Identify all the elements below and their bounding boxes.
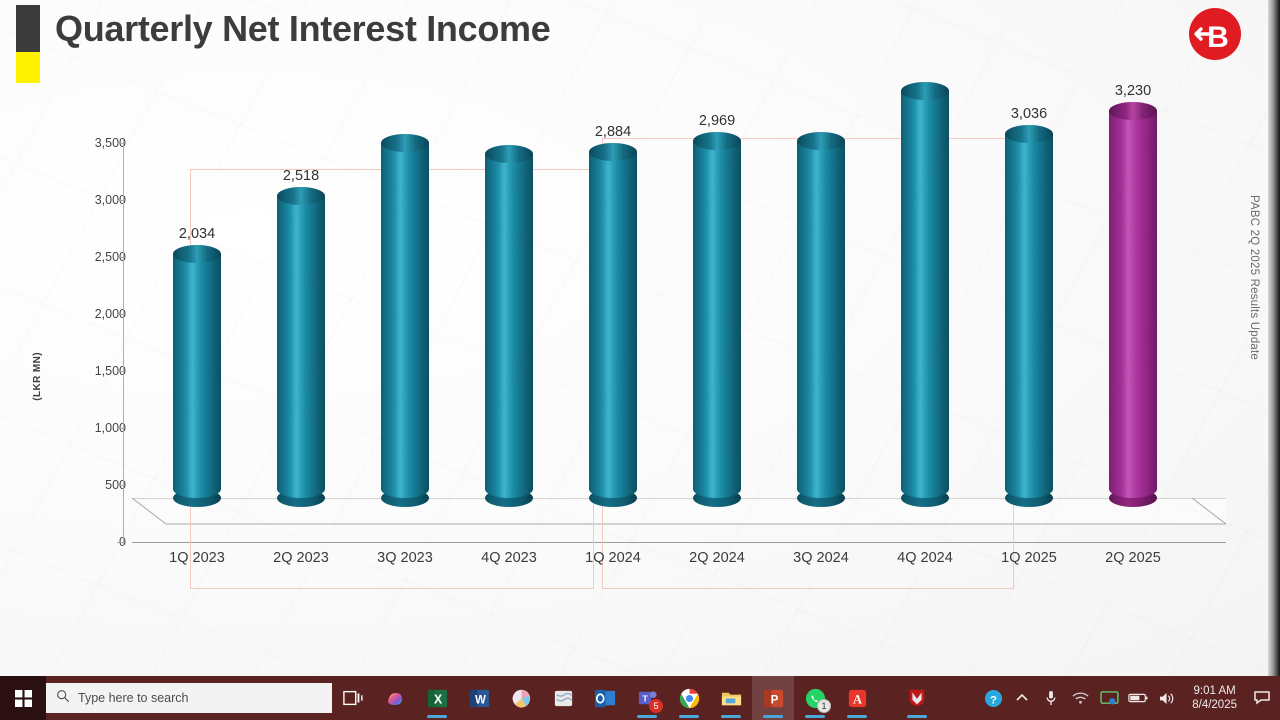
show-hidden-icons-chevron-up-icon[interactable] (1012, 688, 1032, 708)
x-label-1q-2025: 1Q 2025 (1001, 550, 1057, 566)
windows-taskbar: Type here to search X (0, 676, 1280, 720)
bar-body (1005, 134, 1053, 498)
running-indicator (679, 715, 699, 718)
slide-side-label: PABC 2Q 2025 Results Update (1248, 195, 1260, 360)
whatsapp-badge: 1 (817, 699, 831, 713)
x-label-4q-2023: 4Q 2023 (481, 550, 537, 566)
copilot-icon[interactable] (374, 676, 416, 720)
y-tick-mark-2500 (117, 257, 123, 258)
svg-text:A: A (853, 692, 862, 706)
y-tick-mark-500 (117, 485, 123, 486)
svg-text:X: X (433, 692, 442, 706)
task-view-icon[interactable] (332, 676, 374, 720)
running-indicator (805, 715, 825, 718)
running-indicator (637, 715, 657, 718)
company-logo: B (1187, 6, 1243, 62)
bar-cap (173, 245, 221, 263)
running-indicator (763, 715, 783, 718)
file-explorer-icon[interactable] (710, 676, 752, 720)
teams-badge: 5 (649, 699, 663, 713)
x-label-2q-2023: 2Q 2023 (273, 550, 329, 566)
bar-label-1q-2023: 2,034 (179, 226, 215, 242)
bar-2q-2024[interactable]: 2,969 (693, 141, 741, 498)
bar-cap (797, 132, 845, 150)
bar-cap (277, 187, 325, 205)
bar-label-1q-2025: 3,036 (1011, 106, 1047, 122)
powerpoint-slide[interactable]: Quarterly Net Interest Income B PABC 2Q … (0, 0, 1268, 676)
bar-1q-2023[interactable]: 2,034 (173, 254, 221, 498)
outlook-icon[interactable] (584, 676, 626, 720)
svg-text:B: B (1207, 21, 1229, 54)
chart: (LKR MN) 0 500 1,000 1,500 2,000 2,500 3… (36, 122, 1226, 622)
bar-2q-2023[interactable]: 2,518 (277, 196, 325, 498)
network-wifi-icon[interactable] (1070, 688, 1090, 708)
bar-cap (1109, 102, 1157, 120)
chrome-icon[interactable] (668, 676, 710, 720)
accent-bar-yellow (16, 52, 40, 83)
x-axis-labels: 1Q 2023 2Q 2023 3Q 2023 4Q 2023 1Q 2024 … (132, 550, 1226, 586)
x-label-3q-2023: 3Q 2023 (377, 550, 433, 566)
clock-time: 9:01 AM (1192, 684, 1237, 698)
powerpoint-icon[interactable]: P (752, 676, 794, 720)
y-tick-mark-3000 (117, 200, 123, 201)
running-indicator (907, 715, 927, 718)
bar-cap (693, 132, 741, 150)
screen-right-edge (1268, 0, 1280, 676)
y-tick-mark-3500 (117, 143, 123, 144)
battery-icon[interactable] (1128, 688, 1148, 708)
svg-text:T: T (642, 693, 648, 703)
title-accent-bar (16, 5, 40, 83)
teams-icon[interactable]: T 5 (626, 676, 668, 720)
bar-1q-2025[interactable]: 3,036 (1005, 134, 1053, 498)
whatsapp-icon[interactable]: 1 (794, 676, 836, 720)
system-tray: ? (983, 684, 1280, 713)
x-label-1q-2023: 1Q 2023 (169, 550, 225, 566)
page-title: Quarterly Net Interest Income (55, 8, 550, 50)
search-placeholder-text: Type here to search (78, 691, 188, 705)
microphone-icon[interactable] (1041, 688, 1061, 708)
plot-area: 2,034 2,518 (132, 122, 1226, 542)
mcafee-icon[interactable] (896, 676, 938, 720)
x-label-2q-2025: 2Q 2025 (1105, 550, 1161, 566)
clock[interactable]: 9:01 AM 8/4/2025 (1186, 684, 1243, 713)
svg-text:P: P (770, 694, 778, 706)
bar-cap (381, 134, 429, 152)
excel-icon[interactable]: X (416, 676, 458, 720)
y-tick-mark-0 (117, 542, 123, 543)
clock-date: 8/4/2025 (1192, 698, 1237, 712)
bar-2q-2025[interactable]: 3,230 (1109, 111, 1157, 498)
bar-body (693, 141, 741, 498)
y-tick-mark-1500 (117, 371, 123, 372)
running-indicator (847, 715, 867, 718)
running-indicator (427, 715, 447, 718)
y-axis-line (123, 140, 124, 546)
bar-label-2q-2024: 2,969 (699, 113, 735, 129)
x-label-1q-2024: 1Q 2024 (585, 550, 641, 566)
notification-center-icon[interactable] (1252, 688, 1272, 708)
help-icon[interactable]: ? (983, 688, 1003, 708)
bar-cap (1005, 125, 1053, 143)
search-icon (56, 689, 70, 708)
svg-text:W: W (475, 694, 486, 706)
bar-body (901, 91, 949, 498)
y-tick-mark-1000 (117, 428, 123, 429)
bar-body (1109, 111, 1157, 498)
bar-1q-2024[interactable]: 2,884 (589, 152, 637, 498)
bar-body (485, 154, 533, 498)
running-indicator (721, 715, 741, 718)
screen: Quarterly Net Interest Income B PABC 2Q … (0, 0, 1280, 720)
bar-label-1q-2024: 2,884 (595, 124, 631, 140)
bar-cap (589, 143, 637, 161)
svg-text:?: ? (990, 694, 997, 706)
bar-body (173, 254, 221, 498)
x-label-4q-2024: 4Q 2024 (897, 550, 953, 566)
bar-cap (901, 82, 949, 100)
acrobat-icon[interactable]: A (836, 676, 878, 720)
word-icon[interactable]: W (458, 676, 500, 720)
bar-label-2q-2025: 3,230 (1115, 83, 1151, 99)
display-cast-icon[interactable] (1099, 688, 1119, 708)
start-button[interactable] (0, 676, 46, 720)
bar-4q-2023[interactable] (485, 154, 533, 498)
bar-body (381, 143, 429, 498)
bar-3q-2024[interactable] (797, 141, 845, 498)
bar-body (589, 152, 637, 498)
bar-4q-2024[interactable] (901, 91, 949, 498)
bar-body (797, 141, 845, 498)
bar-3q-2023[interactable] (381, 143, 429, 498)
photos-icon[interactable] (500, 676, 542, 720)
y-axis: 0 500 1,000 1,500 2,000 2,500 3,000 3,50… (36, 122, 126, 542)
search-input[interactable]: Type here to search (46, 683, 332, 713)
bar-cap (485, 145, 533, 163)
accent-bar-dark (16, 5, 40, 52)
volume-icon[interactable] (1157, 688, 1177, 708)
x-label-3q-2024: 3Q 2024 (793, 550, 849, 566)
bar-body (277, 196, 325, 498)
bar-label-2q-2023: 2,518 (283, 168, 319, 184)
sticky-notes-icon[interactable] (542, 676, 584, 720)
y-tick-mark-2000 (117, 314, 123, 315)
x-label-2q-2024: 2Q 2024 (689, 550, 745, 566)
